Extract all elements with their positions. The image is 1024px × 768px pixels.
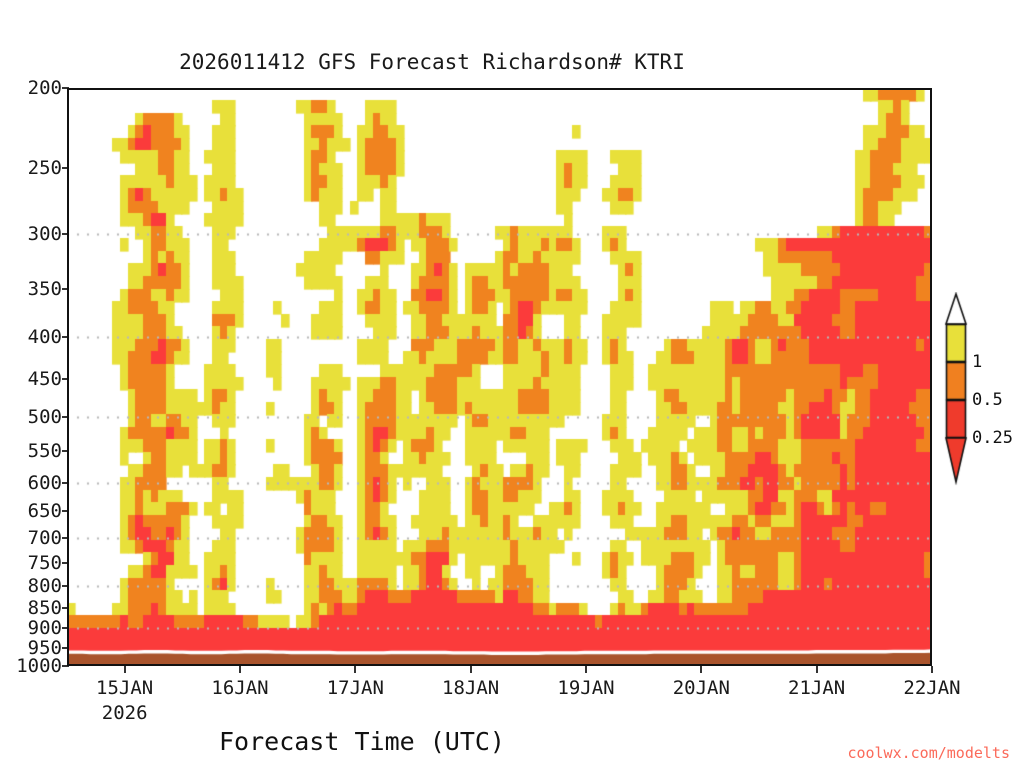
x-tick-label-7: 22JAN <box>903 677 960 699</box>
x-tick-mark-4 <box>585 666 587 673</box>
y-tick-label-750: 750 <box>28 552 62 574</box>
x-tick-mark-7 <box>931 666 933 673</box>
y-tick-label-650: 650 <box>28 500 62 522</box>
y-tick-label-500: 500 <box>28 406 62 428</box>
y-tick-label-550: 550 <box>28 440 62 462</box>
y-tick-label-400: 400 <box>28 326 62 348</box>
y-tick-label-200: 200 <box>28 77 62 99</box>
x-tick-label-1: 16JAN <box>211 677 268 699</box>
colorbar-label-1: 1 <box>972 352 982 372</box>
watermark-link[interactable]: coolwx.com/modelts <box>847 744 1010 762</box>
x-tick-label-5: 20JAN <box>673 677 730 699</box>
x-tick-mark-0 <box>124 666 126 673</box>
y-axis-labels: 2002503003504004505005506006507007508008… <box>0 88 62 666</box>
y-tick-label-450: 450 <box>28 368 62 390</box>
colorbar: 0.250.51 <box>940 292 1024 488</box>
y-tick-label-850: 850 <box>28 597 62 619</box>
x-tick-mark-5 <box>700 666 702 673</box>
colorbar-label-0-5: 0.5 <box>972 390 1003 410</box>
y-tick-label-350: 350 <box>28 278 62 300</box>
x-tick-mark-6 <box>816 666 818 673</box>
chart-title: 2026011412 GFS Forecast Richardson# KTRI <box>0 50 1024 74</box>
x-tick-mark-1 <box>239 666 241 673</box>
y-tick-label-700: 700 <box>28 527 62 549</box>
x-tick-label-4: 19JAN <box>557 677 614 699</box>
x-tick-label-0: 15JAN <box>96 677 153 699</box>
x-axis: 15JAN16JAN17JAN18JAN19JAN20JAN21JAN22JAN… <box>67 666 932 726</box>
x-tick-label-2: 17JAN <box>327 677 384 699</box>
y-tick-label-1000: 1000 <box>16 655 62 677</box>
richardson-heatmap <box>67 88 932 666</box>
colorbar-label-0-25: 0.25 <box>972 428 1013 448</box>
y-tick-label-600: 600 <box>28 472 62 494</box>
y-tick-label-250: 250 <box>28 157 62 179</box>
plot-area <box>67 88 932 666</box>
chart-root: 2026011412 GFS Forecast Richardson# KTRI… <box>0 0 1024 768</box>
x-tick-label-6: 21JAN <box>788 677 845 699</box>
x-tick-mark-3 <box>470 666 472 673</box>
x-axis-year-label: 2026 <box>102 702 148 724</box>
x-tick-mark-2 <box>354 666 356 673</box>
y-tick-label-800: 800 <box>28 575 62 597</box>
x-tick-label-3: 18JAN <box>442 677 499 699</box>
y-tick-label-300: 300 <box>28 223 62 245</box>
